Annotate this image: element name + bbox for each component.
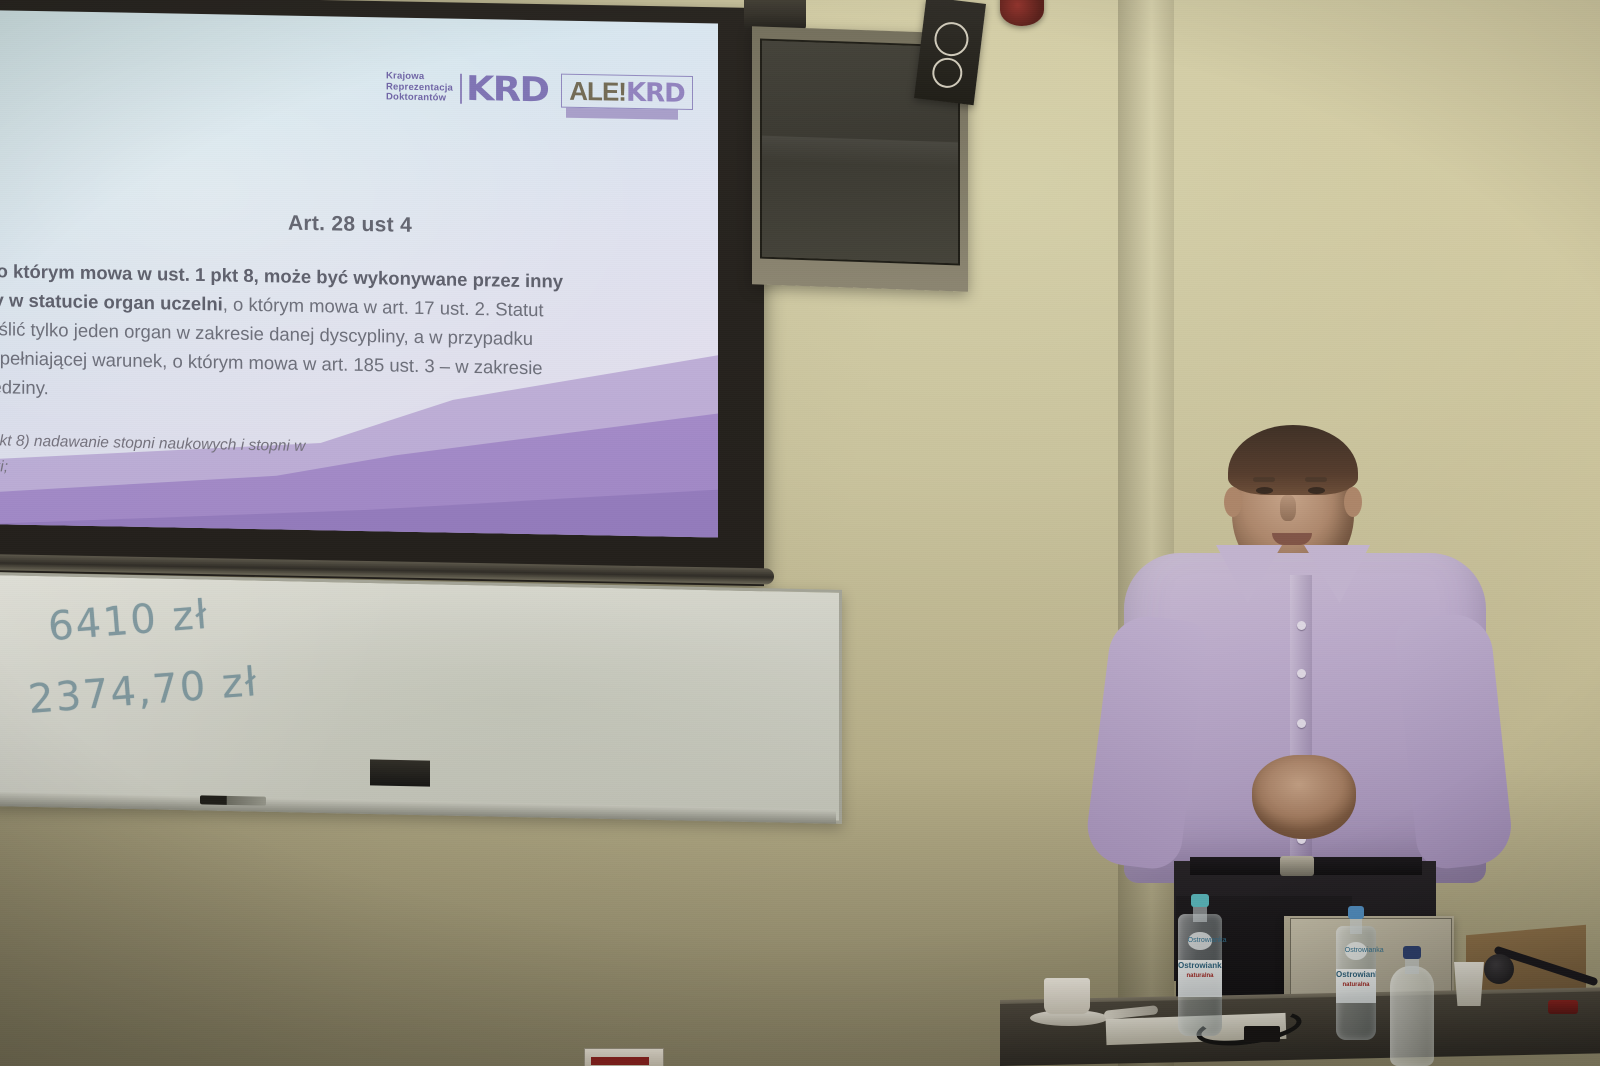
presenter [1104,425,1504,945]
bottle-label: Ostrowiankanaturalna [1336,969,1376,1003]
krd-logo-divider [460,74,462,104]
wall-speaker [914,0,986,105]
slide-body-text: danie, o którym mowa w ust. 1 pkt 8, moż… [0,255,698,414]
bottle-brand: Ostrowianka [1178,961,1222,970]
alekrd-logo: ALE!KRD [561,74,692,110]
alekrd-mark: KRD [626,78,685,109]
slide-article-heading: Art. 28 ust 4 [0,206,718,243]
presenter-nose [1280,495,1296,521]
shirt-button-1 [1297,621,1306,630]
red-object [1548,1000,1578,1014]
alekrd-logo-bar [566,108,678,120]
krd-word-3: Doktorantów [386,93,453,105]
presenter-eyebrow-left [1253,477,1275,482]
presenter-mouth [1272,533,1312,545]
presenter-eye-left [1256,487,1273,494]
krd-logo: Krajowa Reprezentacja Doktorantów KRD [386,67,545,110]
water-bottle-2: Ostrowianka Ostrowiankanaturalna [1336,908,1376,1040]
slide-footnote: 8 ust 1 pkt 8) nadawanie stopni naukowyc… [0,427,640,492]
bottle-cap [1403,946,1421,959]
shirt-button-3 [1297,719,1306,728]
bottle-cap [1191,894,1209,907]
presenter-eyebrow-right [1305,477,1327,482]
presentation-slide: Krajowa Reprezentacja Doktorantów KRD AL… [0,10,718,537]
krd-logo-words: Krajowa Reprezentacja Doktorantów [386,72,453,105]
whiteboard-marker [200,795,266,805]
shirt-button-2 [1297,669,1306,678]
presenter-eye-right [1308,487,1325,494]
microphone-head [1484,954,1514,984]
glass-bottle [1390,948,1434,1066]
coffee-cup [1044,978,1090,1014]
slide-logos: Krajowa Reprezentacja Doktorantów KRD AL… [386,67,693,113]
alekrd-prefix: ALE! [569,76,626,107]
presenter-ear-right [1344,487,1362,517]
presenter-table [1000,991,1600,1066]
whiteboard-eraser [370,759,430,786]
bottle-brand-sub: naturalna [1178,971,1222,982]
photo-scene: Krajowa Reprezentacja Doktorantów KRD AL… [0,0,1600,1066]
monitor-glare [762,136,958,169]
bottle-brand: Ostrowianka [1336,970,1376,979]
speaker-driver-bottom [931,56,964,89]
slide-content: Krajowa Reprezentacja Doktorantów KRD AL… [0,10,718,537]
bottle-label: Ostrowiankanaturalna [1178,960,1222,996]
belt-buckle [1280,856,1314,876]
projection-screen: Krajowa Reprezentacja Doktorantów KRD AL… [0,0,772,582]
plastic-cup [1452,962,1486,1006]
presenter-hair [1228,425,1358,495]
wall-sign-stripe [591,1057,649,1065]
alekrd-logo-text: ALE!KRD [569,77,684,108]
bottle-body [1390,966,1434,1066]
speaker-driver-top [933,20,971,58]
wall-sign [584,1048,664,1066]
water-bottle-1: Ostrowianka Ostrowiankanaturalna [1178,896,1222,1036]
bottle-cap [1348,906,1364,919]
presenter-hands [1252,755,1356,839]
krd-logo-mark: KRD [466,69,548,111]
presenter-ear-left [1224,487,1242,517]
bottle-brand-sub: naturalna [1336,980,1376,991]
power-adapter [1244,1026,1280,1042]
